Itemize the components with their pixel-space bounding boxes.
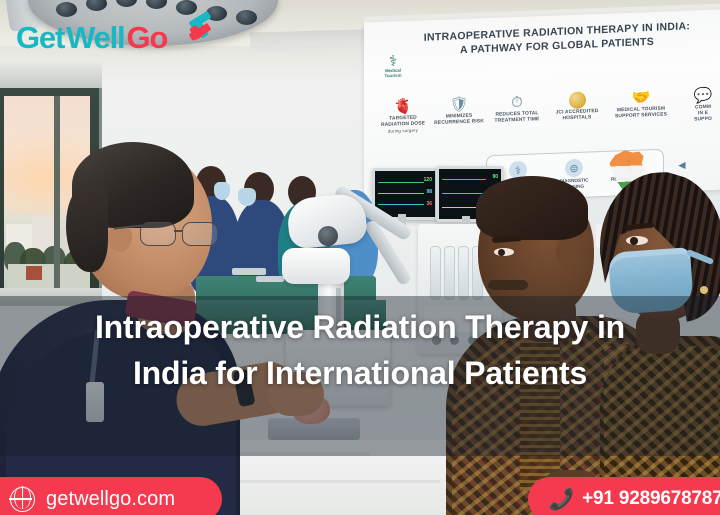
arrow-left-icon: ◄ xyxy=(676,158,688,172)
website-badge[interactable]: getwellgo.com xyxy=(0,477,222,515)
website-url: getwellgo.com xyxy=(46,488,175,511)
helping-hand-icon: 🤝 xyxy=(606,87,676,109)
gas-flow-tube xyxy=(430,246,441,300)
phone-icon: 📞 xyxy=(548,489,574,510)
benefit-item-5: 💬 COMM IN E SUPPO xyxy=(668,85,720,125)
surgical-instrument xyxy=(256,276,284,282)
staff-mask-2 xyxy=(238,188,256,206)
patient-male-hair xyxy=(476,176,588,240)
surgical-instrument xyxy=(232,268,266,275)
gas-flow-tube xyxy=(458,246,469,300)
headline-line-2: India for International Patients xyxy=(0,350,720,396)
sheet-fold xyxy=(230,480,440,483)
ct-scanner-icon: ⊜ xyxy=(565,159,583,178)
doctor-glasses xyxy=(140,222,214,246)
mt-logo-line2: Tourism xyxy=(372,72,414,79)
patient-female-eye xyxy=(626,236,648,245)
window-header xyxy=(0,62,102,88)
medical-tourism-logo: ⚕ Medical Tourism xyxy=(372,54,414,86)
brand-logo[interactable]: Get Well Go xyxy=(16,22,167,53)
promo-banner-image: INTRAOPERATIVE RADIATION THERAPY IN INDI… xyxy=(0,0,720,515)
patient-male-eye xyxy=(494,248,514,256)
speech-bubble-icon: 💬 xyxy=(668,85,720,107)
iort-applicator-lens xyxy=(318,226,338,246)
phone-badge[interactable]: 📞 +91 9289678787 xyxy=(528,477,720,515)
headline-line-1: Intraoperative Radiation Therapy in xyxy=(0,304,720,350)
staff-mask-1 xyxy=(214,182,230,200)
benefit-item-4: 🤝 MEDICAL TOURISM SUPPORT SERVICES xyxy=(606,87,676,121)
phone-number: +91 9289678787 xyxy=(582,488,720,510)
logo-text-go: Go xyxy=(126,22,167,53)
gold-medal-icon xyxy=(569,91,586,109)
patient-female-earring xyxy=(700,286,708,294)
medical-cross-icon xyxy=(183,14,213,44)
gas-flow-tube xyxy=(444,246,455,300)
globe-icon xyxy=(10,487,35,512)
patient-male-moustache xyxy=(488,280,528,290)
logo-text-well: Well xyxy=(66,22,124,53)
window-mullion xyxy=(54,96,60,292)
logo-text-get: Get xyxy=(16,22,64,53)
doctor-hair-side xyxy=(66,186,108,272)
iort-collimator xyxy=(282,248,350,284)
patient-male-ear xyxy=(556,238,578,266)
page-title: Intraoperative Radiation Therapy in Indi… xyxy=(0,304,720,396)
benefit-item-3: JCI ACCREDITED HOSPITALS xyxy=(542,90,612,124)
